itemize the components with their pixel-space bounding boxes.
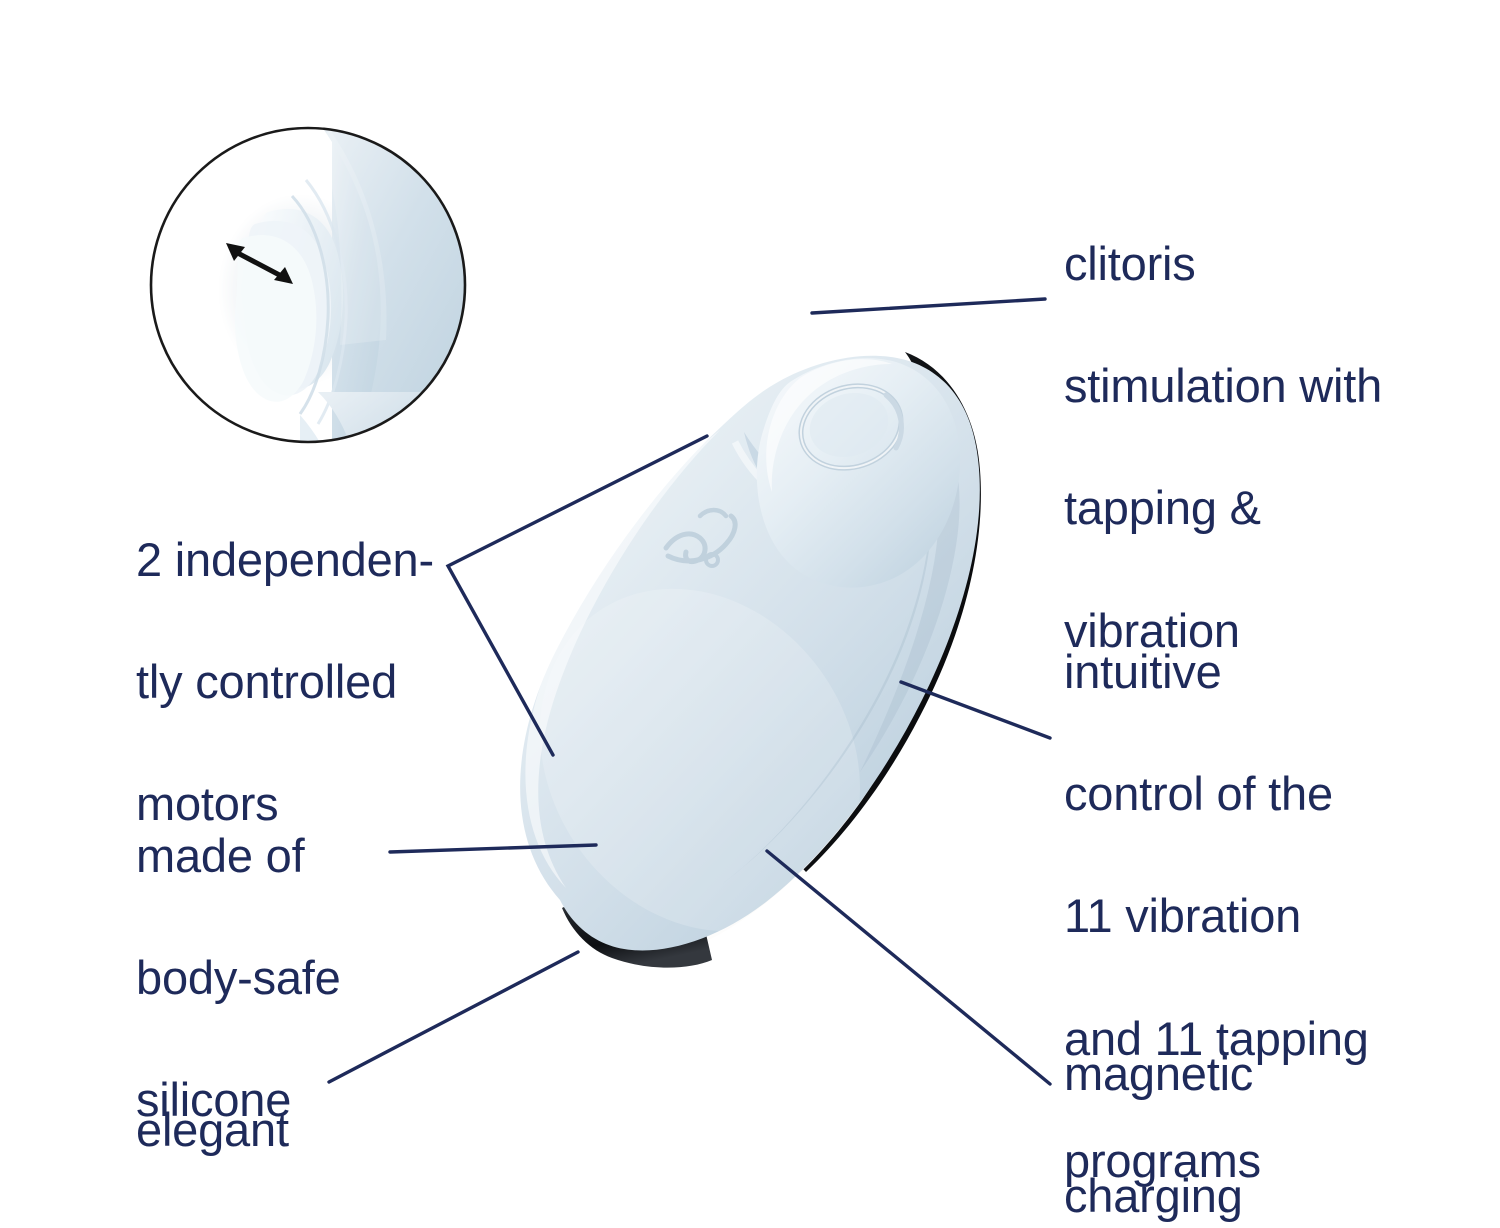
callout-elegant-abs-detail: elegant ABS detail: [136, 1038, 436, 1228]
callout-line: made of: [136, 825, 436, 886]
callout-line: elegant: [136, 1099, 436, 1160]
callout-line: ABS detail: [136, 1221, 436, 1228]
callout-line: intuitive: [1064, 641, 1454, 702]
callout-line: 11 vibration: [1064, 885, 1454, 946]
callout-line: tly controlled: [136, 651, 496, 712]
callout-line: control of the: [1064, 763, 1454, 824]
leader-line-clitoris: [812, 299, 1045, 313]
callout-line: body-safe: [136, 947, 436, 1008]
magnified-detail-inset: [150, 127, 476, 524]
callout-line: 2 independen-: [136, 529, 496, 590]
callout-line: tapping &: [1064, 477, 1444, 538]
leader-line-magnetic: [767, 851, 1050, 1084]
product-device: [475, 352, 981, 993]
callout-magnetic-charging: magnetic charging connection: [1064, 982, 1444, 1228]
leader-line-intuitive: [901, 682, 1050, 738]
callout-line: charging: [1064, 1165, 1444, 1226]
infographic-canvas: clitoris stimulation with tapping & vibr…: [0, 0, 1500, 1228]
callout-line: stimulation with: [1064, 355, 1444, 416]
callout-line: clitoris: [1064, 233, 1444, 294]
callout-line: magnetic: [1064, 1043, 1444, 1104]
